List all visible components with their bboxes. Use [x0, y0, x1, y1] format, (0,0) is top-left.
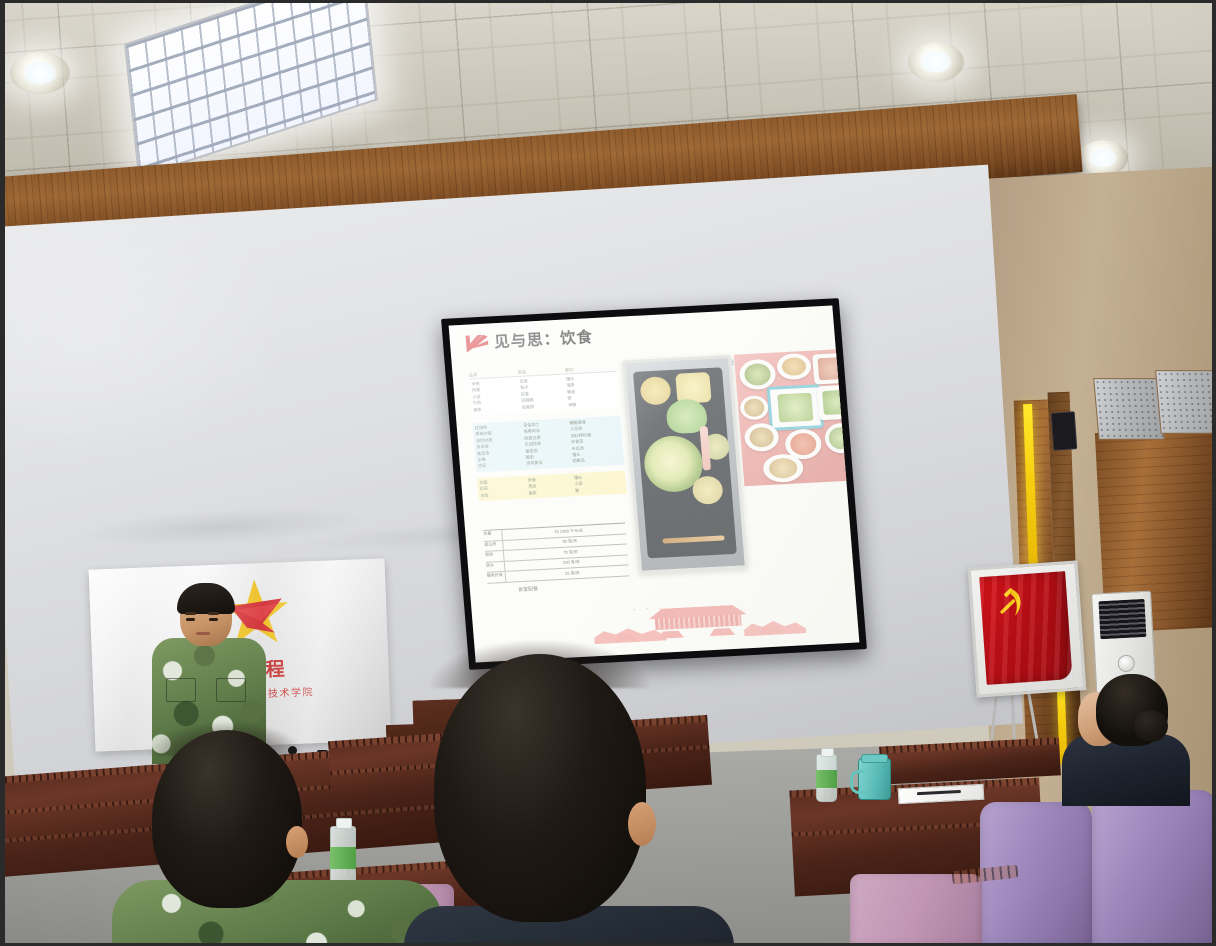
audience-head-left: [152, 730, 302, 908]
speaker-eye: [186, 618, 195, 621]
bottle-label: [330, 847, 356, 869]
menu-cell: 面条: [473, 405, 519, 414]
nutrition-key: 碳水: [486, 561, 506, 571]
green-label-water-bottle: [816, 754, 837, 802]
slide-caption: 食堂配餐: [518, 585, 539, 593]
hair: [152, 730, 302, 908]
wall-mounted-speaker: [1051, 411, 1078, 451]
food-plate: [776, 353, 812, 381]
food-plate: [767, 384, 824, 431]
projection-screen: 见与思：饮食 "泰美之声"大学生社团汇报及社团成员工作报告会 品类 菜名 单价 …: [441, 298, 867, 670]
menu-cell: 凉菜: [478, 461, 524, 470]
auditorium-seat: [1092, 790, 1216, 946]
recessed-downlight: [908, 42, 964, 82]
speaker-hair: [177, 583, 235, 614]
menu-cell: 粥: [575, 485, 625, 494]
nutrition-key: 膳食纤维: [487, 572, 507, 582]
nutrition-table: 热量约 2400 千卡/天 蛋白质90 克/天 脂肪70 克/天 碳水330 克…: [483, 523, 629, 581]
speaker-eye: [209, 618, 218, 621]
communist-party-flag: [979, 571, 1072, 685]
menu-table: 品类 菜名 单价 米粥豆浆馒头 鸡蛋包子油条 小菜花卷粥品 牛奶豆腐脑饼 面条鸡…: [468, 353, 627, 501]
chopsticks: [662, 535, 724, 543]
menu-cell: 鸡蛋饼: [522, 402, 566, 411]
food-dish: [692, 475, 724, 504]
menu-cell: 水饺: [480, 490, 526, 499]
perforated-acoustic-panel: [1093, 378, 1165, 440]
bottle-cap: [821, 748, 835, 757]
food-plate: [738, 359, 776, 391]
perforated-acoustic-panel: [1155, 370, 1216, 434]
presentation-slide: 见与思：饮食 "泰美之声"大学生社团汇报及社团成员工作报告会 品类 菜名 单价 …: [449, 305, 860, 662]
menu-cell: 凉拌黄瓜: [526, 459, 570, 468]
green-label-water-bottle: [330, 826, 356, 888]
food-dish: [639, 376, 671, 405]
recessed-downlight: [10, 52, 70, 94]
bento-tray-photo: [622, 355, 748, 574]
nutrition-key: 蛋白质: [484, 540, 504, 550]
slide-title: 见与思：饮食: [493, 325, 594, 352]
menu-band-lunch: 红烧肉宫保鸡丁糖醋里脊 青椒炒蛋鱼香肉丝土豆丝 清炒时蔬麻婆豆腐西红柿炒蛋 白米…: [473, 416, 625, 472]
ear: [628, 802, 656, 846]
hair: [434, 654, 646, 922]
mug-lid: [861, 754, 888, 763]
auditorium-seat: [850, 874, 982, 946]
menu-cell: 拍黄瓜: [572, 456, 622, 465]
bottle-cap: [336, 818, 353, 829]
nutrition-key: 脂肪: [485, 551, 505, 561]
nutrition-key: 热量: [483, 530, 503, 540]
audience-head-center: [434, 654, 646, 922]
teal-travel-mug: [858, 758, 891, 800]
speaker-mouth: [196, 632, 210, 635]
ac-vent: [1098, 599, 1146, 639]
ac-control-knob: [1117, 654, 1135, 672]
uniform-pocket: [166, 678, 196, 702]
flag-drape-folds: [979, 571, 1072, 685]
speaker-brow: [208, 612, 219, 615]
speaker-brow: [185, 612, 196, 615]
tray-background: [633, 367, 737, 558]
lecture-hall-photo: 见与思：饮食 "泰美之声"大学生社团汇报及社团成员工作报告会 品类 菜名 单价 …: [0, 0, 1216, 946]
dishes-spread-photo: [734, 349, 859, 487]
bottle-label: [816, 770, 837, 787]
mug-handle: [850, 770, 865, 794]
pen: [917, 790, 961, 795]
cpc-party-emblem-icon: [463, 331, 491, 354]
uniform-pocket: [216, 678, 246, 702]
food-plate: [739, 395, 769, 420]
menu-cell: 米糕: [568, 399, 618, 408]
ear: [286, 826, 308, 858]
seated-woman-right: [1068, 672, 1190, 804]
tiananmen-gate-illustration: ⌃ ⌃ ⌃: [591, 593, 804, 644]
menu-cell: 面条: [528, 488, 572, 497]
food-plate: [762, 453, 804, 483]
woman-hair-bun: [1134, 710, 1168, 742]
